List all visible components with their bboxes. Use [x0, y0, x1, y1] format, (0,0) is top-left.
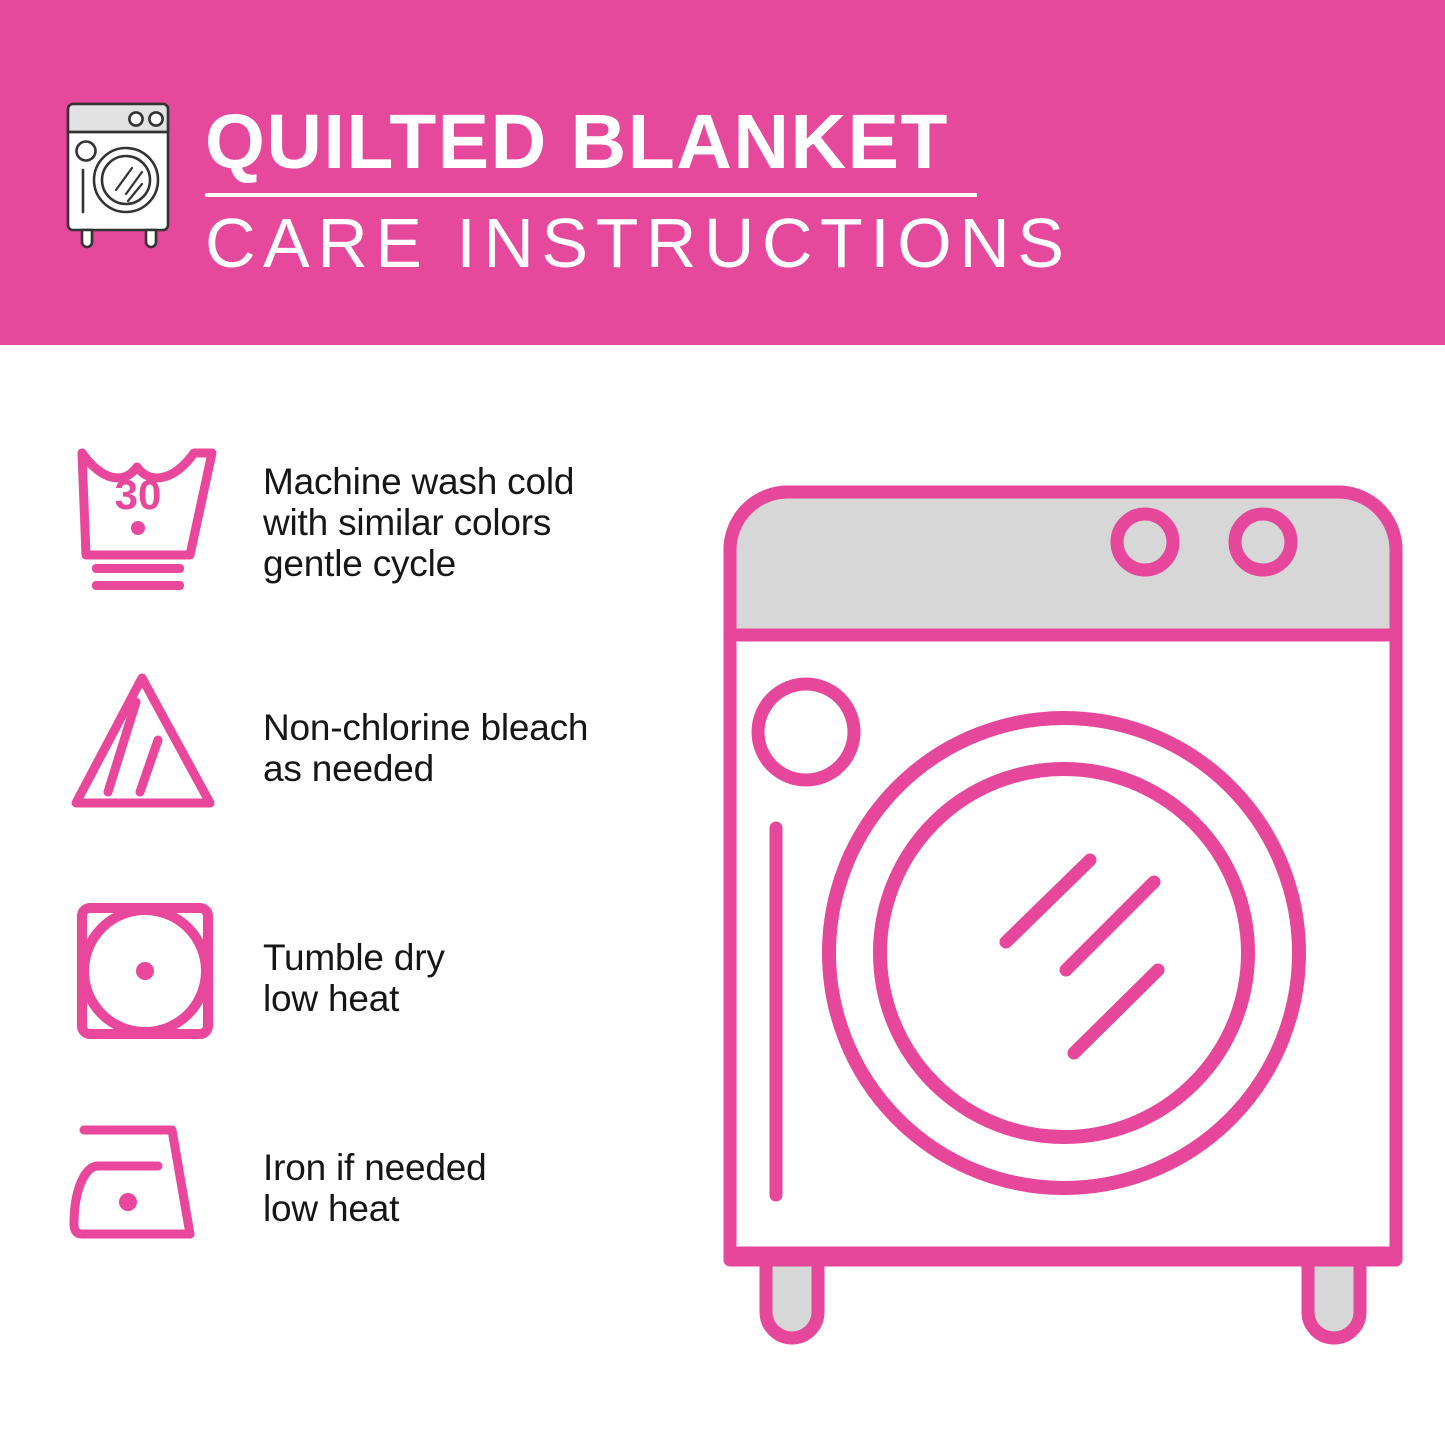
tumble-dry-icon — [62, 890, 237, 1065]
front-load-washing-machine-illustration — [718, 480, 1408, 1360]
non-chlorine-bleach-triangle-icon — [62, 660, 237, 835]
care-text-tumble-dry: Tumble dry low heat — [263, 937, 445, 1019]
header-text-block: QUILTED BLANKET CARE INSTRUCTIONS — [205, 100, 995, 282]
care-row-bleach: Non-chlorine bleach as needed — [0, 660, 700, 835]
iron-icon — [62, 1100, 237, 1275]
care-row-iron: Iron if needed low heat — [0, 1100, 700, 1275]
title-divider — [205, 193, 977, 197]
machine-control-panel — [730, 492, 1396, 635]
care-row-machine-wash: 30 Machine wash cold with similar colors… — [0, 435, 700, 610]
header-band: QUILTED BLANKET CARE INSTRUCTIONS — [0, 0, 1445, 345]
wash-temperature-label: 30 — [115, 471, 162, 518]
care-text-machine-wash: Machine wash cold with similar colors ge… — [263, 461, 574, 584]
page-subtitle: CARE INSTRUCTIONS — [205, 204, 995, 282]
care-text-bleach: Non-chlorine bleach as needed — [263, 707, 588, 789]
washing-machine-icon — [58, 98, 186, 250]
care-instructions-page: QUILTED BLANKET CARE INSTRUCTIONS 30 — [0, 0, 1445, 1445]
page-title: QUILTED BLANKET — [205, 100, 995, 184]
machine-wash-tub-icon: 30 — [62, 435, 237, 610]
care-text-iron: Iron if needed low heat — [263, 1147, 486, 1229]
care-row-tumble-dry: Tumble dry low heat — [0, 890, 700, 1065]
